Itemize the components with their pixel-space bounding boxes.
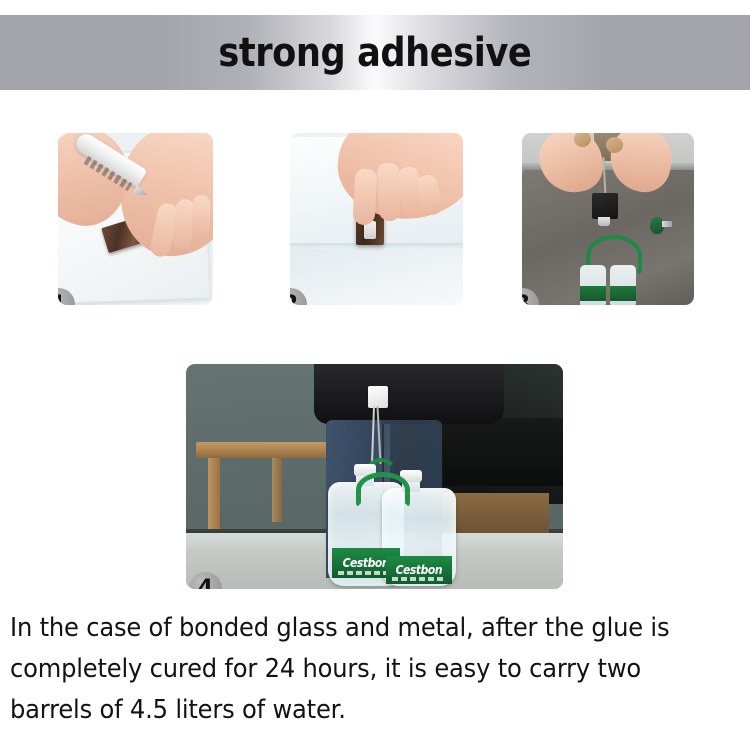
bonded-hook <box>592 193 618 219</box>
person-shirt <box>314 364 504 424</box>
water-bottle-group <box>580 251 642 305</box>
finger-index <box>353 168 378 225</box>
table-leg-back <box>272 458 282 522</box>
step-number-4: 4 <box>198 578 213 590</box>
step-number-1: 1 <box>58 294 66 306</box>
wooden-table-top <box>196 442 332 458</box>
caption-text: In the case of bonded glass and metal, a… <box>10 608 689 731</box>
scene-hook-on-wall <box>522 133 694 305</box>
step-photo-1: 1 <box>58 133 213 305</box>
bonded-plate <box>368 386 388 408</box>
finger-3 <box>191 195 211 240</box>
label-subtext-back <box>392 577 446 581</box>
scene-press-bracket <box>290 133 463 305</box>
green-clip-tip <box>662 221 672 227</box>
dark-chair <box>443 418 563 486</box>
header-banner: strong adhesive <box>0 15 750 90</box>
step-number-3: 3 <box>522 294 530 306</box>
step-photo-2: 2 <box>290 133 463 305</box>
bottle-label-right <box>610 286 636 301</box>
bottle-label-left <box>580 286 606 301</box>
page-title: strong adhesive <box>219 33 532 73</box>
bottle-label-back: Cestbon <box>386 556 452 584</box>
right-knuckle <box>606 137 623 153</box>
scene-carrying-bottles: Cestbon Cestbon <box>186 364 563 589</box>
step-photo-3: 3 <box>522 133 694 305</box>
hook-lip <box>598 217 610 226</box>
green-carry-strap <box>356 472 410 508</box>
step-photo-4: Cestbon Cestbon 4 <box>186 364 563 589</box>
step-number-2: 2 <box>290 294 298 306</box>
scene-apply-glue <box>58 133 213 305</box>
bottle-brand-front: Cestbon <box>343 556 390 570</box>
bottle-brand-back: Cestbon <box>396 563 443 577</box>
